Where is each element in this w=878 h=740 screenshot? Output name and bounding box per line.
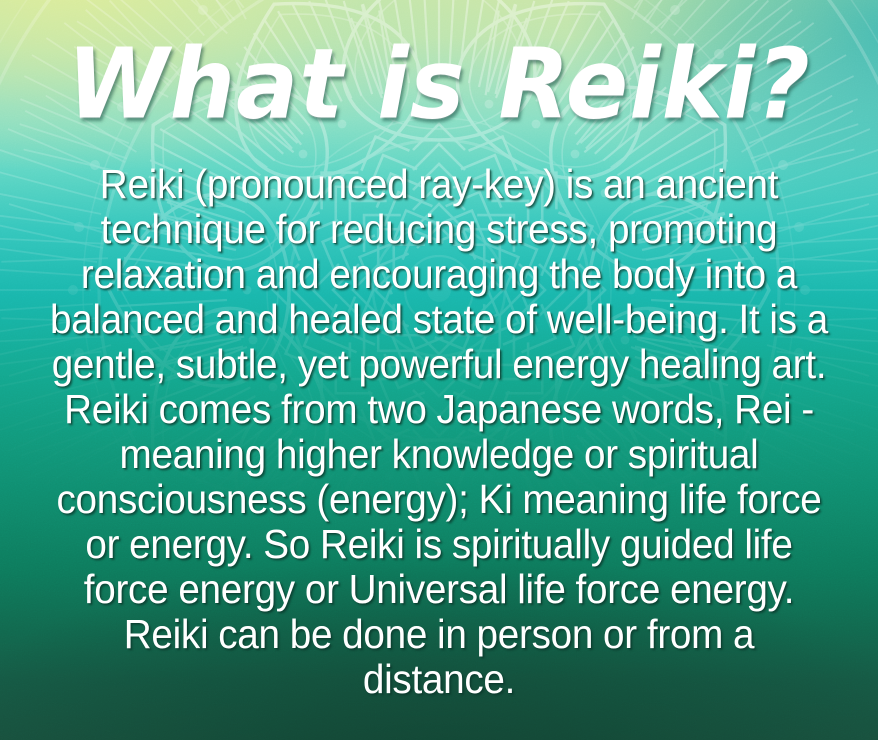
body-line: balanced and healed state of well-being.… — [27, 297, 850, 342]
body-line: relaxation and encouraging the body into… — [27, 252, 850, 297]
body-line: or energy. So Reiki is spiritually guide… — [27, 522, 850, 567]
body-line: meaning higher knowledge or spiritual — [27, 432, 850, 477]
body-line: distance. — [27, 657, 850, 702]
body-line: gentle, subtle, yet powerful energy heal… — [27, 342, 850, 387]
body-line: consciousness (energy); Ki meaning life … — [27, 477, 850, 522]
body-paragraph: Reiki (pronounced ray-key) is an ancient… — [27, 126, 850, 702]
reiki-poster: What is Reiki? Reiki (pronounced ray-key… — [0, 0, 878, 740]
body-line: Reiki (pronounced ray-key) is an ancient — [27, 162, 850, 207]
body-line: force energy or Universal life force ene… — [27, 567, 850, 612]
body-line: Reiki can be done in person or from a — [27, 612, 850, 657]
body-line: technique for reducing stress, promoting — [27, 207, 850, 252]
body-line: Reiki comes from two Japanese words, Rei… — [27, 387, 850, 432]
page-title: What is Reiki? — [67, 0, 811, 134]
poster-content: What is Reiki? Reiki (pronounced ray-key… — [0, 0, 878, 740]
